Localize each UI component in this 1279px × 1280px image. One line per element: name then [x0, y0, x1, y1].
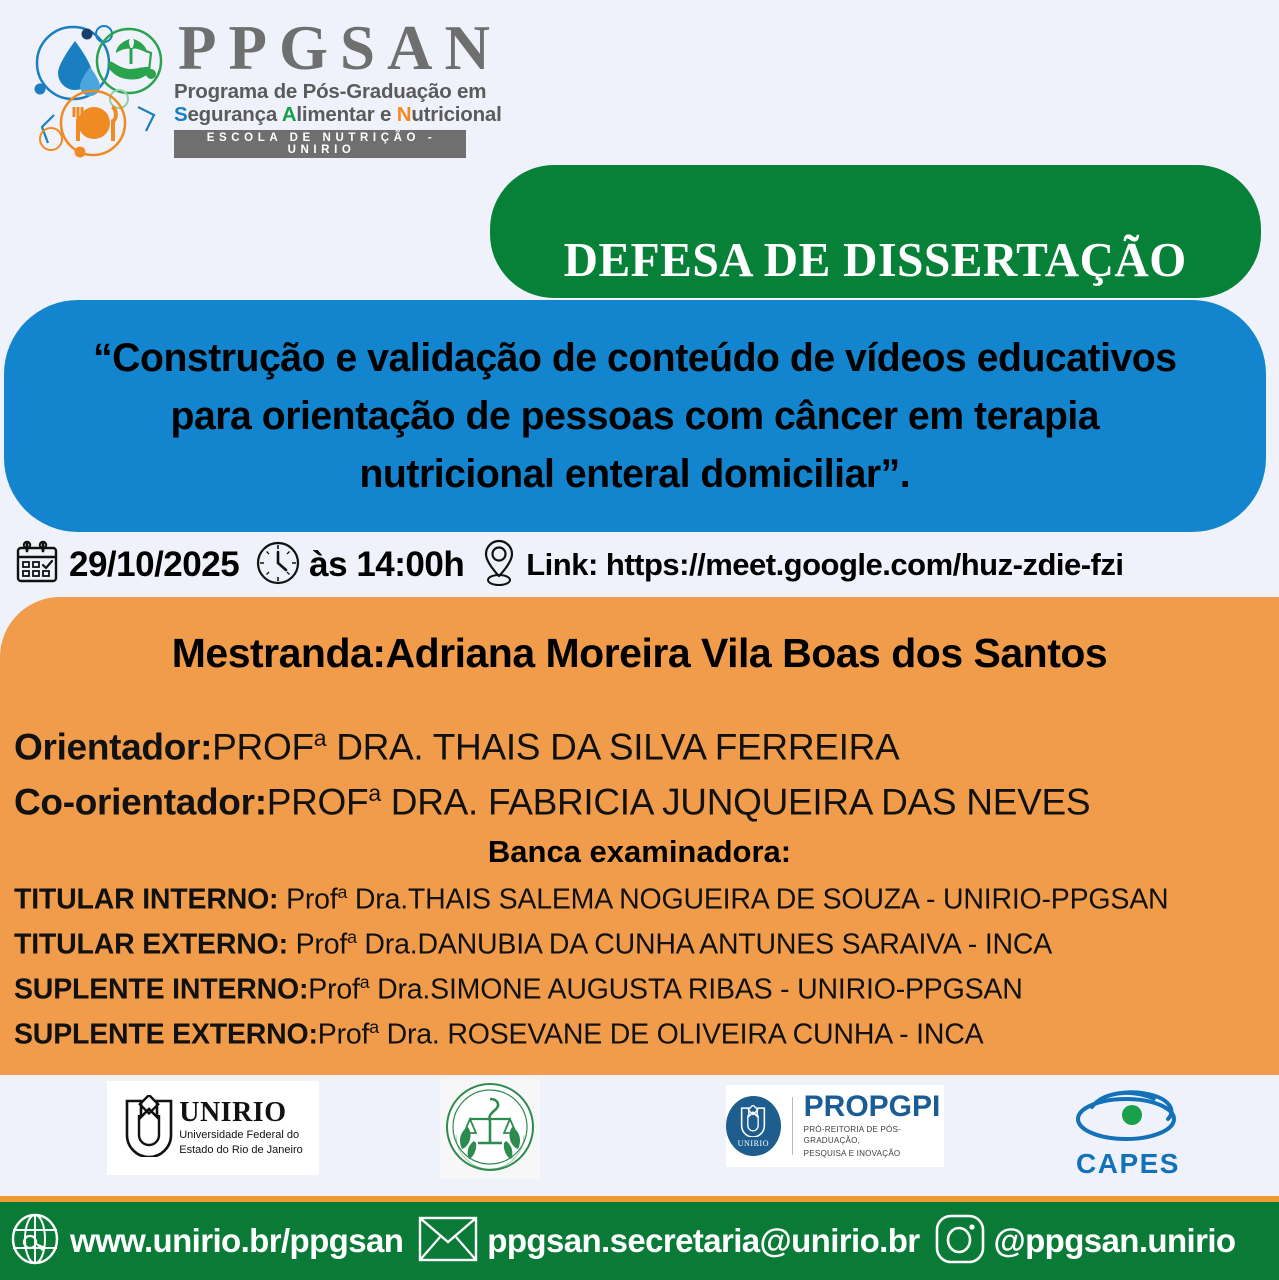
- email-text[interactable]: ppgsan.secretaria@unirio.br: [487, 1222, 919, 1260]
- event-time-item: às 14:00h: [239, 540, 464, 591]
- committee-prefix: Prof: [308, 974, 359, 1006]
- committee-row: SUPLENTE INTERNO:Profa Dra.SIMONE AUGUST…: [14, 972, 1023, 1007]
- escola-nutricao-logo: [440, 1079, 540, 1179]
- committee-name: Dra.THAIS SALEMA NOGUEIRA DE SOUZA - UNI…: [347, 884, 1168, 916]
- event-date-item: 29/10/2025: [14, 540, 239, 591]
- committee-prefix: Prof: [318, 1019, 369, 1051]
- committee-ordinal: a: [360, 972, 370, 992]
- unirio-crest-icon: [123, 1095, 175, 1162]
- committee-row: TITULAR INTERNO: Profa Dra.THAIS SALEMA …: [14, 882, 1168, 917]
- ppgsan-subtitle-line2: Segurança Alimentar e Nutricional: [174, 104, 502, 127]
- unirio-logo: UNIRIO Universidade Federal do Estado do…: [107, 1081, 319, 1175]
- capes-name: CAPES: [1076, 1148, 1180, 1180]
- event-link[interactable]: Link: https://meet.google.com/huz-zdie-f…: [526, 547, 1123, 583]
- student-label: Mestranda:: [172, 630, 386, 676]
- capes-swirl-icon: [1068, 1087, 1188, 1152]
- event-type-label: DEFESA DE DISSERTAÇÃO: [564, 231, 1187, 288]
- event-link-item: Link: https://meet.google.com/huz-zdie-f…: [464, 538, 1123, 593]
- advisor-name-post: DRA. THAIS DA SILVA FERREIRA: [326, 726, 899, 767]
- committee-role: TITULAR INTERNO:: [14, 884, 278, 916]
- instagram-text[interactable]: @ppgsan.unirio: [994, 1222, 1236, 1260]
- committee-ordinal: a: [369, 1017, 379, 1037]
- thesis-title-line-3: nutricional enteral domiciliar”.: [93, 445, 1177, 503]
- website-item[interactable]: www.unirio.br/ppgsan: [8, 1212, 403, 1271]
- letter-s: S: [174, 103, 187, 126]
- unirio-disc-label: UNIRIO: [738, 1139, 770, 1148]
- poster-root: PPGSAN Programa de Pós-Graduação em Segu…: [0, 0, 1279, 1280]
- map-pin-icon: [478, 538, 520, 593]
- advisor-name-pre: PROF: [212, 726, 314, 767]
- committee-ordinal: a: [347, 927, 357, 947]
- committee-name: Dra.DANUBIA DA CUNHA ANTUNES SARAIVA - I…: [357, 929, 1052, 961]
- ppgsan-logo-icon: [18, 19, 168, 159]
- committee-row: SUPLENTE EXTERNO:Profa Dra. ROSEVANE DE …: [14, 1017, 983, 1052]
- advisor-label: Orientador:: [14, 726, 212, 767]
- word-nutricional: utricional: [411, 103, 501, 126]
- event-time: às 14:00h: [309, 545, 464, 585]
- committee-ordinal: a: [338, 882, 348, 902]
- coadvisor-row: Co-orientador:PROFa DRA. FABRICIA JUNQUE…: [14, 780, 1090, 823]
- committee-name: Dra.SIMONE AUGUSTA RIBAS - UNIRIO-PPGSAN: [369, 974, 1022, 1006]
- website-text[interactable]: www.unirio.br/ppgsan: [70, 1222, 403, 1260]
- envelope-icon: [417, 1214, 479, 1269]
- globe-icon: [8, 1212, 62, 1271]
- committee-prefix: Prof: [288, 929, 347, 961]
- letter-n: N: [397, 103, 412, 126]
- thesis-title: “Construção e validação de conteúdo de v…: [78, 329, 1193, 503]
- contact-footer: www.unirio.br/ppgsan ppgsan.secretaria@u…: [0, 1202, 1279, 1280]
- letter-a: A: [282, 103, 297, 126]
- unirio-disc-icon: UNIRIO: [726, 1096, 781, 1156]
- coadvisor-name-post: DRA. FABRICIA JUNQUEIRA DAS NEVES: [381, 781, 1090, 822]
- propgpi-logo: UNIRIO PROPGPI PRÓ-REITORIA DE PÓS-GRADU…: [726, 1085, 944, 1167]
- instagram-item[interactable]: @ppgsan.unirio: [934, 1213, 1236, 1270]
- email-item[interactable]: ppgsan.secretaria@unirio.br: [417, 1214, 919, 1269]
- committee-role: TITULAR EXTERNO:: [14, 929, 288, 961]
- coadvisor-name-pre: PROF: [267, 781, 369, 822]
- committee-name: Dra. ROSEVANE DE OLIVEIRA CUNHA - INCA: [379, 1019, 984, 1051]
- escola-nutricao-seal-icon: [444, 1081, 536, 1178]
- student-name: Adriana Moreira Vila Boas dos Santos: [385, 630, 1107, 676]
- ppgsan-school-bar: ESCOLA DE NUTRIÇÃO - UNIRIO: [174, 130, 466, 158]
- unirio-sub-line2: Estado do Rio de Janeiro: [179, 1144, 303, 1157]
- ppgsan-logo-text: PPGSAN Programa de Pós-Graduação em Segu…: [174, 19, 502, 158]
- thesis-title-line-1: “Construção e validação de conteúdo de v…: [93, 329, 1177, 387]
- thesis-title-line-2: para orientação de pessoas com câncer em…: [93, 387, 1177, 445]
- ppgsan-logo-header: PPGSAN Programa de Pós-Graduação em Segu…: [18, 16, 518, 161]
- committee-row: TITULAR EXTERNO: Profa Dra.DANUBIA DA CU…: [14, 927, 1052, 962]
- committee-role: SUPLENTE INTERNO:: [14, 974, 308, 1006]
- thesis-title-banner: “Construção e validação de conteúdo de v…: [4, 300, 1266, 532]
- coadvisor-name-ordinal: a: [368, 780, 380, 806]
- details-panel: Mestranda:Adriana Moreira Vila Boas dos …: [0, 597, 1279, 1075]
- capes-logo: CAPES: [1058, 1083, 1198, 1183]
- committee-title: Banca examinadora:: [0, 834, 1279, 870]
- propgpi-divider: [792, 1097, 793, 1155]
- advisor-row: Orientador:PROFa DRA. THAIS DA SILVA FER…: [14, 725, 899, 768]
- word-seguranca: egurança: [187, 103, 281, 126]
- clock-icon: [255, 540, 301, 591]
- committee-prefix: Prof: [278, 884, 337, 916]
- advisor-name-ordinal: a: [314, 725, 326, 751]
- instagram-icon: [934, 1213, 986, 1270]
- committee-role: SUPLENTE EXTERNO:: [14, 1019, 318, 1051]
- unirio-name: UNIRIO: [179, 1099, 303, 1127]
- propgpi-sub-line1: PRÓ-REITORIA DE PÓS-GRADUAÇÃO,: [804, 1125, 944, 1146]
- student-row: Mestranda:Adriana Moreira Vila Boas dos …: [0, 630, 1279, 677]
- propgpi-sub-line2: PESQUISA E INOVAÇÃO: [804, 1149, 944, 1159]
- propgpi-name: PROPGPI: [804, 1092, 944, 1122]
- coadvisor-label: Co-orientador:: [14, 781, 267, 822]
- event-info-row: 29/10/2025 às 14:00h Link: [0, 536, 1279, 594]
- event-date: 29/10/2025: [69, 545, 239, 585]
- word-alimentar: limentar e: [296, 103, 396, 126]
- ppgsan-subtitle-line1: Programa de Pós-Graduação em: [174, 81, 502, 104]
- event-type-banner: DEFESA DE DISSERTAÇÃO: [490, 165, 1261, 298]
- sponsor-logos-strip: UNIRIO Universidade Federal do Estado do…: [0, 1075, 1279, 1193]
- ppgsan-acronym: PPGSAN: [178, 19, 502, 79]
- calendar-icon: [14, 540, 60, 591]
- unirio-sub-line1: Universidade Federal do: [179, 1129, 303, 1142]
